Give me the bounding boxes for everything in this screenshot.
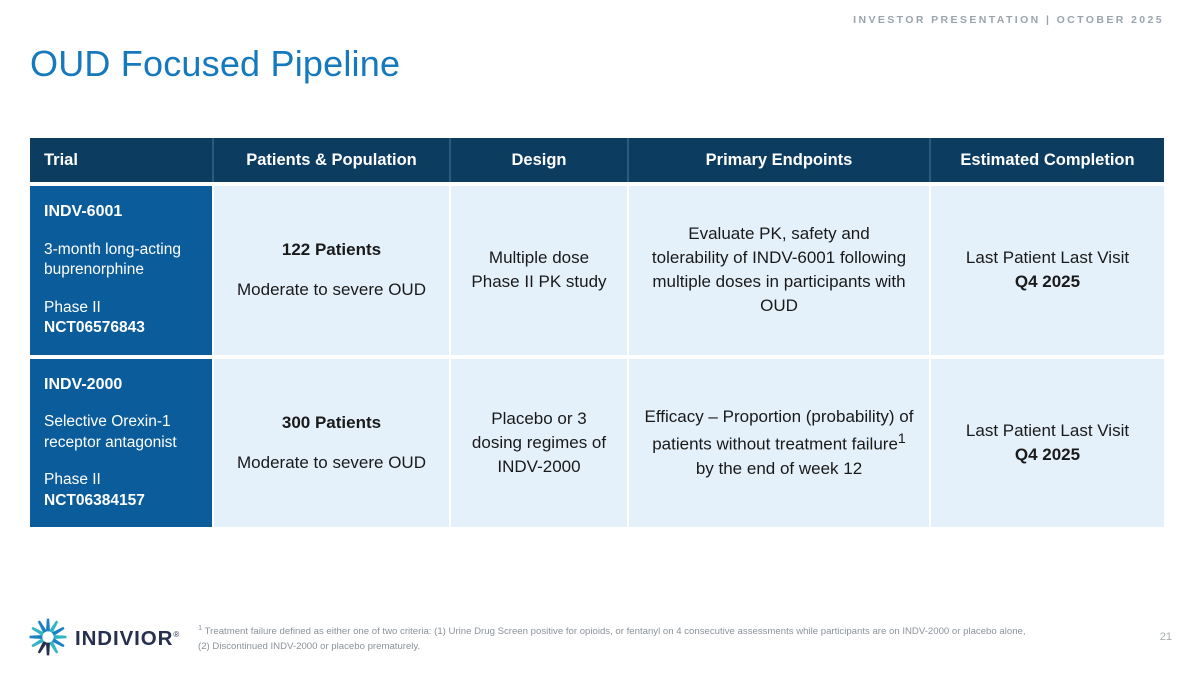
- pipeline-table: Trial Patients & Population Design Prima…: [30, 138, 1164, 527]
- indivior-wordmark: INDIVIOR®: [75, 629, 180, 650]
- table-row: INDV-2000 Selective Orexin-1 receptor an…: [30, 359, 1164, 528]
- footnote: 1 Treatment failure defined as either on…: [198, 622, 1108, 655]
- indivior-wordmark-text: INDIVIOR: [75, 627, 173, 650]
- trial-code: INDV-6001: [44, 202, 212, 223]
- patients-count: 122 Patients: [214, 238, 449, 262]
- column-header-patients-population: Patients & Population: [213, 138, 450, 182]
- patients-population-cell-row1: 122 Patients Moderate to severe OUD: [213, 186, 450, 355]
- table-body: INDV-6001 3-month long-acting buprenorph…: [30, 182, 1164, 527]
- page-number: 21: [1160, 631, 1172, 643]
- estimated-completion-cell-row2: Last Patient Last Visit Q4 2025: [930, 359, 1164, 528]
- trial-phase: Phase II: [44, 470, 212, 490]
- trial-nct-number: NCT06384157: [44, 491, 212, 511]
- primary-endpoint-part2: by the end of week 12: [696, 459, 862, 478]
- inline-spacer: [214, 435, 449, 451]
- table-row: INDV-6001 3-month long-acting buprenorph…: [30, 186, 1164, 355]
- trial-phase: Phase II: [44, 298, 212, 318]
- patients-population: Moderate to severe OUD: [214, 278, 449, 302]
- indivior-starburst-icon: [28, 617, 68, 662]
- table-header: Trial Patients & Population Design Prima…: [30, 138, 1164, 182]
- trial-code: INDV-2000: [44, 375, 212, 396]
- column-header-primary-endpoints: Primary Endpoints: [628, 138, 930, 182]
- primary-endpoint-cell-row2: Efficacy – Proportion (probability) of p…: [628, 359, 930, 528]
- table-header-row: Trial Patients & Population Design Prima…: [30, 138, 1164, 182]
- patients-count: 300 Patients: [214, 411, 449, 435]
- investor-presentation-eyebrow: INVESTOR PRESENTATION | OCTOBER 2025: [853, 14, 1164, 26]
- design-text: Multiple dose Phase II PK study: [451, 246, 627, 294]
- primary-endpoint-text: Efficacy – Proportion (probability) of p…: [641, 405, 917, 481]
- trial-description: Selective Orexin-1 receptor antagonist: [44, 412, 212, 453]
- footnote-line-2: (2) Discontinued INDV-2000 or placebo pr…: [198, 641, 420, 652]
- completion-label: Last Patient Last Visit: [931, 246, 1164, 270]
- completion-value: Q4 2025: [931, 270, 1164, 294]
- completion-value: Q4 2025: [931, 443, 1164, 467]
- primary-endpoint-cell-row1: Evaluate PK, safety and tolerability of …: [628, 186, 930, 355]
- patients-population-cell-row2: 300 Patients Moderate to severe OUD: [213, 359, 450, 528]
- primary-endpoint-part1: Efficacy – Proportion (probability) of p…: [645, 407, 914, 454]
- page-title: OUD Focused Pipeline: [30, 44, 400, 84]
- registered-trademark-icon: ®: [173, 630, 180, 639]
- design-cell-row1: Multiple dose Phase II PK study: [450, 186, 628, 355]
- trial-cell-indv-2000: INDV-2000 Selective Orexin-1 receptor an…: [30, 359, 213, 528]
- trial-description: 3-month long-acting buprenorphine: [44, 240, 212, 281]
- column-header-trial: Trial: [30, 138, 213, 182]
- completion-label: Last Patient Last Visit: [931, 419, 1164, 443]
- column-header-estimated-completion: Estimated Completion: [930, 138, 1164, 182]
- column-header-design: Design: [450, 138, 628, 182]
- inline-spacer: [214, 262, 449, 278]
- footnote-line-1: Treatment failure defined as either one …: [202, 626, 1025, 637]
- patients-population: Moderate to severe OUD: [214, 451, 449, 475]
- indivior-logo: INDIVIOR®: [28, 617, 180, 662]
- estimated-completion-cell-row1: Last Patient Last Visit Q4 2025: [930, 186, 1164, 355]
- primary-endpoint-text: Evaluate PK, safety and tolerability of …: [651, 222, 907, 319]
- footnote-marker: 1: [898, 431, 906, 447]
- design-cell-row2: Placebo or 3 dosing regimes of INDV-2000: [450, 359, 628, 528]
- trial-cell-indv-6001: INDV-6001 3-month long-acting buprenorph…: [30, 186, 213, 355]
- trial-nct-number: NCT06576843: [44, 318, 212, 338]
- design-text: Placebo or 3 dosing regimes of INDV-2000: [451, 407, 627, 479]
